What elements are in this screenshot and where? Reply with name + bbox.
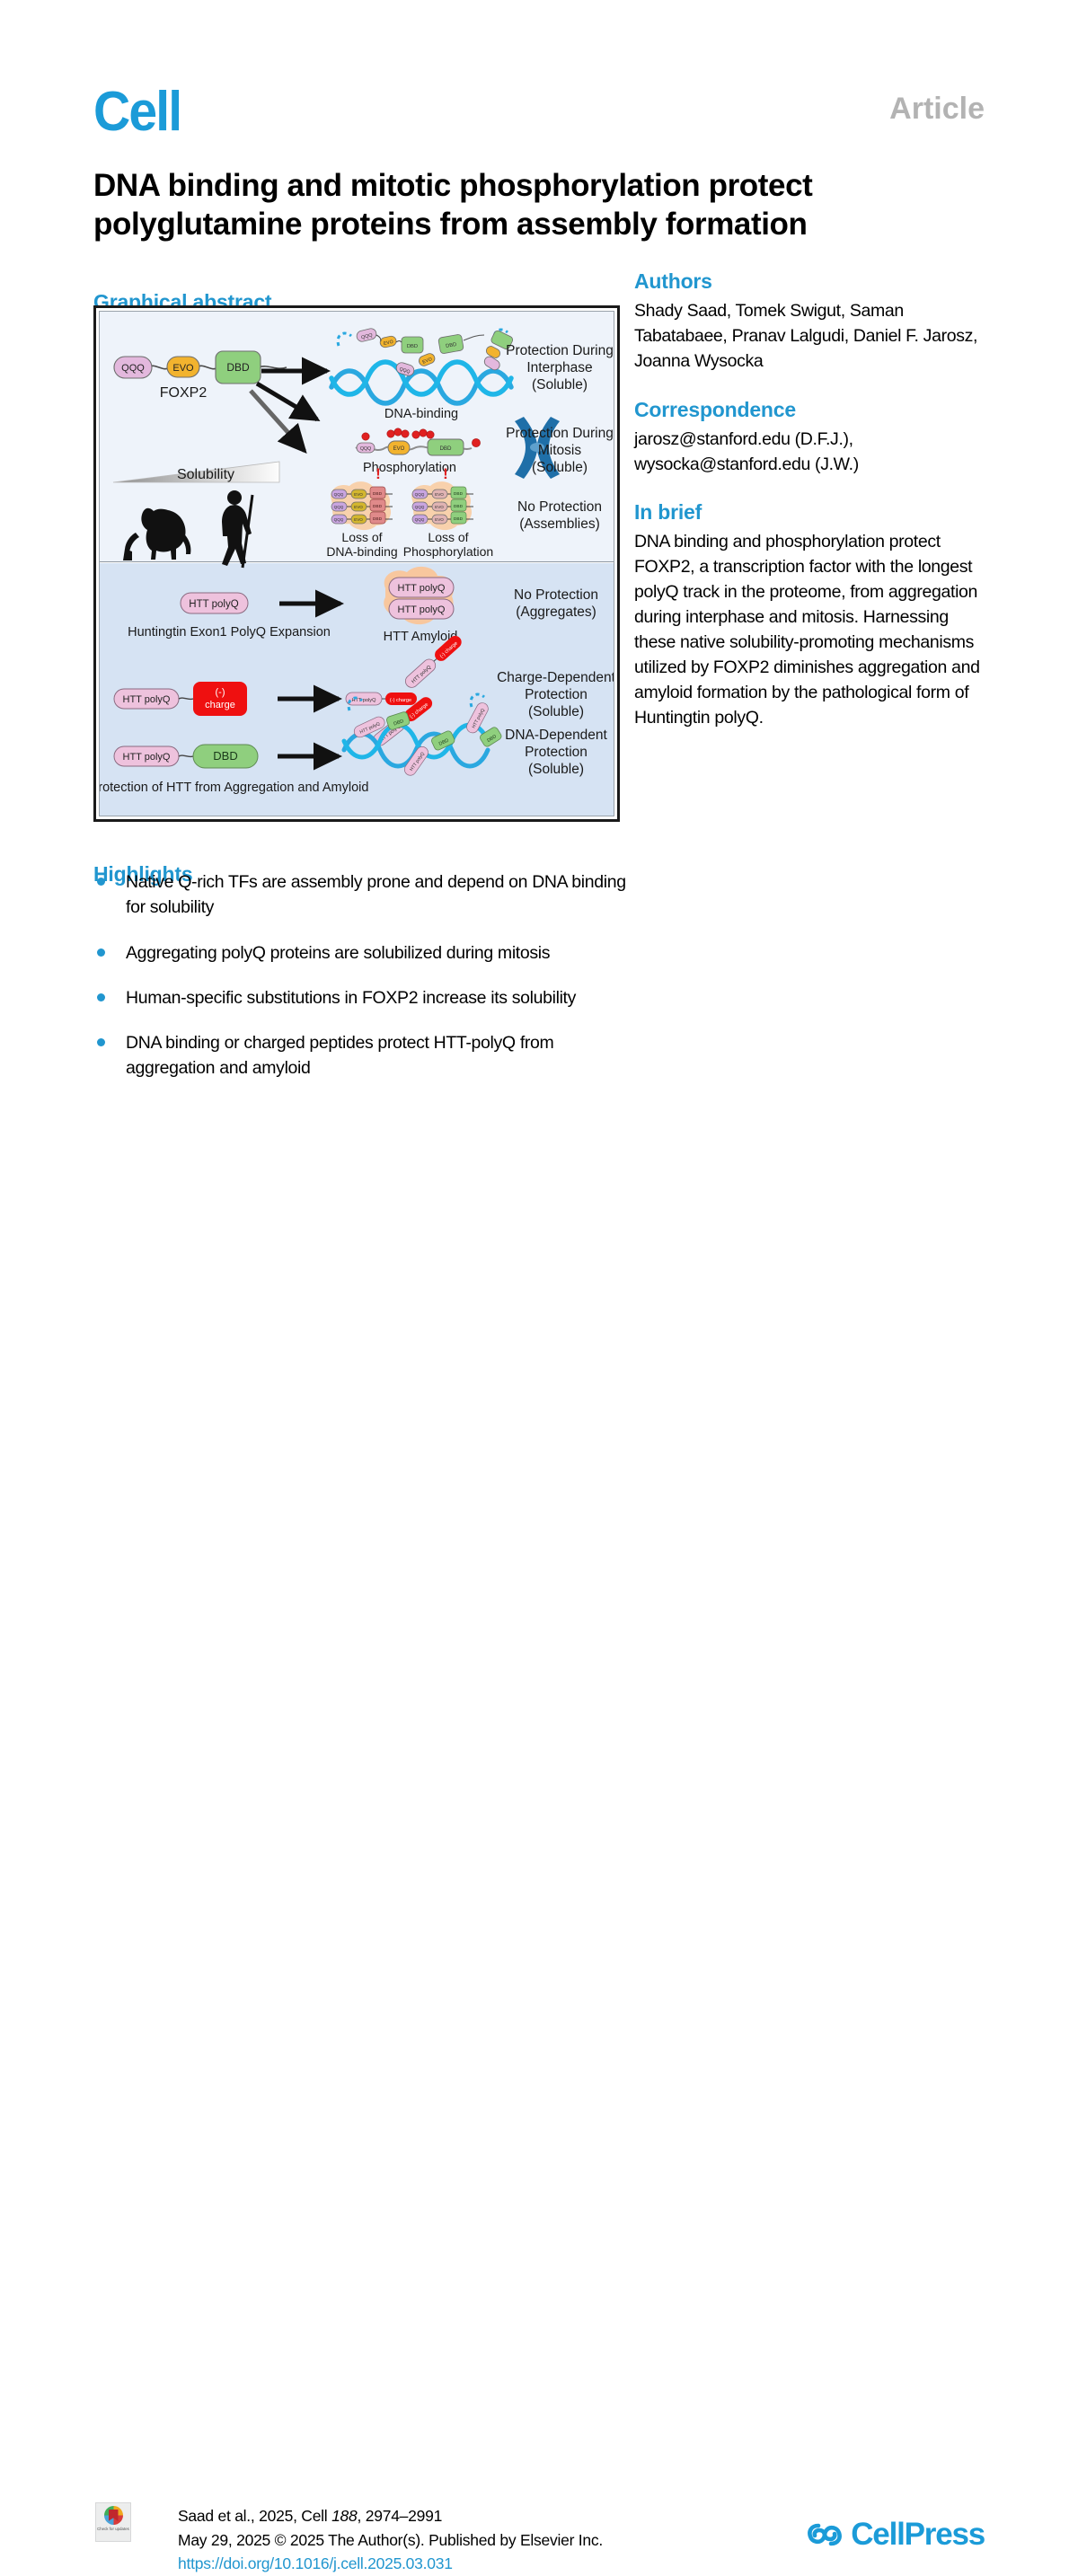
svg-text:Protection: Protection [525, 687, 588, 702]
in-brief-block: In brief DNA binding and phosphorylation… [634, 500, 985, 730]
highlight-text: DNA binding or charged peptides protect … [126, 1033, 553, 1078]
svg-text:Protection of HTT from Aggrega: Protection of HTT from Aggregation and A… [100, 781, 368, 795]
svg-text:(Aggregates): (Aggregates) [516, 604, 596, 620]
svg-text:(Soluble): (Soluble) [528, 762, 584, 777]
svg-text:No Protection: No Protection [517, 499, 602, 515]
svg-text:DBD: DBD [213, 749, 237, 763]
bullet-icon [97, 948, 105, 957]
page-header: Cell Article [93, 86, 985, 149]
svg-text:QQQ: QQQ [415, 492, 425, 497]
cellpress-wordmark: CellPress [851, 2517, 985, 2553]
crossmark-badge-icon[interactable]: Check for updates [95, 2502, 131, 2542]
svg-text:DBD: DBD [407, 344, 418, 349]
svg-text:DBD: DBD [454, 504, 464, 509]
citation-prefix: Saad et al., 2025, Cell [178, 2507, 331, 2525]
svg-text:EVO: EVO [172, 363, 194, 374]
svg-text:charge: charge [205, 700, 235, 710]
svg-text:Mitosis: Mitosis [538, 443, 581, 458]
svg-text:DNA-binding: DNA-binding [384, 407, 458, 421]
svg-text:QQQ: QQQ [415, 517, 425, 522]
svg-text:Huntingtin Exon1 PolyQ Expansi: Huntingtin Exon1 PolyQ Expansion [128, 625, 331, 640]
svg-text:EVO: EVO [354, 517, 363, 522]
doi-link[interactable]: https://doi.org/10.1016/j.cell.2025.03.0… [178, 2552, 603, 2576]
svg-text:EVO: EVO [393, 446, 405, 452]
in-brief-text: DNA binding and phosphorylation protect … [634, 530, 985, 730]
loss-of-dna-binding-assembly: QQQ EVO DBD QQQ EVO DBD [326, 465, 397, 559]
graphical-abstract-canvas: QQQ EVO DBD FOXP2 Solubility [99, 311, 614, 816]
dna-protection-row: HTT polyQ DBD HTT polyQ DBD [100, 694, 503, 795]
svg-text:Protection During: Protection During [506, 426, 614, 441]
crossmark-label: Check for updates [97, 2527, 129, 2531]
authors-list: Shady Saad, Tomek Swigut, Saman Tabataba… [634, 299, 985, 375]
crossmark-ring-icon [104, 2506, 123, 2525]
highlight-item: Human-specific substitutions in FOXP2 in… [93, 985, 632, 1010]
citation-volume: 188 [331, 2507, 357, 2525]
correspondence-heading: Correspondence [634, 398, 985, 422]
svg-text:DBD: DBD [454, 491, 464, 497]
svg-text:No Protection: No Protection [514, 587, 598, 603]
in-brief-heading: In brief [634, 500, 985, 525]
authors-heading: Authors [634, 269, 985, 294]
svg-text:DNA-Dependent: DNA-Dependent [505, 728, 607, 743]
svg-text:EVO: EVO [435, 505, 444, 509]
authors-block: Authors Shady Saad, Tomek Swigut, Saman … [634, 269, 985, 375]
svg-text:Phosphorylation: Phosphorylation [403, 544, 493, 559]
svg-text:DBD: DBD [373, 504, 383, 509]
svg-text:HTT polyQ: HTT polyQ [189, 599, 238, 610]
svg-text:(Assemblies): (Assemblies) [519, 516, 600, 532]
svg-text:(Soluble): (Soluble) [532, 460, 588, 475]
svg-text:EVO: EVO [435, 492, 444, 497]
highlight-item: Aggregating polyQ proteins are solubiliz… [93, 940, 632, 966]
svg-text:HTT polyQ: HTT polyQ [123, 752, 171, 763]
svg-text:QQQ: QQQ [334, 505, 344, 509]
page-footer: Check for updates Saad et al., 2025, Cel… [0, 1248, 1078, 1338]
citation-line-1: Saad et al., 2025, Cell 188, 2974–2991 [178, 2504, 603, 2528]
correspondence-email-2[interactable]: wysocka@stanford.edu (J.W.) [634, 453, 985, 478]
loss-of-phosphorylation-assembly: QQQ EVO DBD QQQ EVO DBD [403, 465, 493, 559]
citation-block: Saad et al., 2025, Cell 188, 2974–2991 M… [178, 2504, 603, 2576]
cellpress-logo: CellPress [807, 2517, 985, 2553]
correspondence-block: Correspondence jarosz@stanford.edu (D.F.… [634, 398, 985, 478]
svg-text:Charge-Dependent: Charge-Dependent [497, 670, 614, 685]
page-root: Cell Article DNA binding and mitotic pho… [0, 0, 1078, 1398]
svg-text:(-): (-) [216, 687, 225, 698]
abstract-illustration: QQQ EVO DBD FOXP2 Solubility [100, 312, 614, 816]
svg-text:Protection: Protection [525, 745, 588, 760]
svg-text:QQQ: QQQ [415, 505, 425, 509]
dna-binding-illustration: QQQ EVO DBD QQQ EVO DBD [331, 328, 514, 421]
right-column: Authors Shady Saad, Tomek Swigut, Saman … [634, 269, 985, 730]
bullet-icon [97, 993, 105, 1001]
svg-text:EVO: EVO [354, 492, 363, 497]
svg-text:EVO: EVO [435, 517, 444, 522]
svg-text:(-) charge: (-) charge [390, 698, 411, 703]
svg-text:HTT polyQ: HTT polyQ [398, 604, 446, 615]
svg-text:!: ! [443, 465, 448, 482]
svg-text:Loss of: Loss of [341, 530, 382, 544]
svg-text:DBD: DBD [373, 516, 383, 522]
svg-text:EVO: EVO [354, 505, 363, 509]
svg-text:FOXP2: FOXP2 [160, 385, 208, 401]
citation-line-2: May 29, 2025 © 2025 The Author(s). Publi… [178, 2528, 603, 2553]
bullet-icon [97, 1038, 105, 1046]
phosphorylation-illustration: QQQ EVO DBD Phosphorylation [356, 428, 481, 475]
svg-text:Solubility: Solubility [177, 467, 234, 482]
page-title: DNA binding and mitotic phosphorylation … [93, 167, 947, 243]
bullet-icon [97, 878, 105, 886]
highlights-list: Native Q-rich TFs are assembly prone and… [93, 869, 632, 1101]
top-panel-outcomes: Protection During Interphase (Soluble) P… [506, 343, 614, 532]
svg-text:QQQ: QQQ [360, 446, 371, 452]
svg-text:DNA-binding: DNA-binding [326, 544, 397, 559]
highlight-text: Human-specific substitutions in FOXP2 in… [126, 988, 576, 1008]
highlight-item: Native Q-rich TFs are assembly prone and… [93, 869, 632, 921]
svg-text:QQQ: QQQ [334, 492, 344, 497]
svg-text:QQQ: QQQ [334, 517, 344, 522]
svg-text:HTT polyQ: HTT polyQ [398, 583, 446, 594]
cellpress-mark-icon [807, 2519, 843, 2550]
svg-text:Loss of: Loss of [428, 530, 468, 544]
highlight-text: Native Q-rich TFs are assembly prone and… [126, 872, 626, 917]
solubility-gradient: Solubility [113, 462, 279, 482]
article-type-label: Article [889, 92, 985, 127]
fanout-arrows [251, 371, 327, 451]
svg-text:!: ! [376, 465, 381, 482]
svg-text:(Soluble): (Soluble) [532, 377, 588, 393]
svg-text:DBD: DBD [454, 516, 464, 522]
svg-text:DBD: DBD [373, 491, 383, 497]
foxp2-schematic: QQQ EVO DBD FOXP2 [114, 351, 287, 401]
svg-text:QQQ: QQQ [121, 363, 145, 374]
htt-aggregation-row: HTT polyQ Huntingtin Exon1 PolyQ Expansi… [128, 567, 457, 644]
highlight-item: DNA binding or charged peptides protect … [93, 1030, 632, 1081]
citation-pages: , 2974–2991 [358, 2507, 443, 2525]
svg-text:Interphase: Interphase [526, 360, 592, 375]
graphical-abstract-figure: QQQ EVO DBD FOXP2 Solubility [93, 305, 620, 822]
svg-text:DBD: DBD [226, 361, 250, 374]
correspondence-email-1[interactable]: jarosz@stanford.edu (D.F.J.), [634, 428, 985, 453]
cell-journal-logo: Cell [93, 84, 181, 140]
svg-text:HTT polyQ: HTT polyQ [123, 694, 171, 705]
svg-text:DBD: DBD [439, 446, 452, 452]
svg-text:Protection During: Protection During [506, 343, 614, 358]
svg-text:(Soluble): (Soluble) [528, 704, 584, 719]
human-silhouette [222, 490, 252, 568]
bottom-panel-outcomes: No Protection (Aggregates) Charge-Depend… [497, 587, 614, 777]
chimpanzee-silhouette [123, 508, 190, 560]
highlight-text: Aggregating polyQ proteins are solubiliz… [126, 943, 550, 963]
